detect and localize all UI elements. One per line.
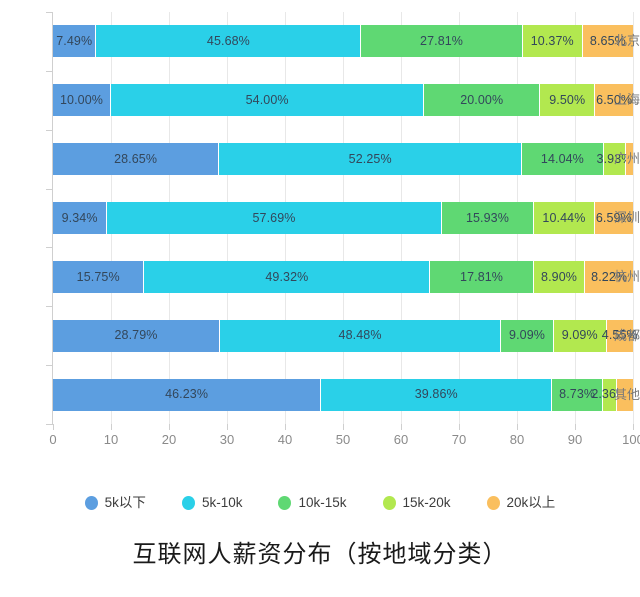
- bar-segment-label: 57.69%: [252, 212, 295, 225]
- legend-label: 10k-15k: [298, 496, 346, 510]
- legend-label: 5k-10k: [202, 496, 243, 510]
- x-axis-tick: [401, 424, 402, 430]
- bar-segment[interactable]: 14.04%: [522, 143, 603, 175]
- legend-label: 20k以上: [507, 496, 556, 510]
- bar-segment[interactable]: 49.32%: [144, 261, 430, 293]
- y-axis-tick: [46, 247, 53, 248]
- chart-legend: 5k以下5k-10k10k-15k15k-20k20k以上: [0, 486, 640, 520]
- y-axis-label-7: 其他: [596, 388, 640, 401]
- x-axis-tick-label: 10: [104, 433, 118, 446]
- x-axis-tick-label: 40: [278, 433, 292, 446]
- bar-segment-label: 49.32%: [265, 271, 308, 284]
- x-axis-tick-label: 80: [510, 433, 524, 446]
- bar-segment[interactable]: 15.75%: [53, 261, 144, 293]
- bar-segment[interactable]: 9.50%: [540, 84, 595, 116]
- bar-segment[interactable]: 27.81%: [361, 25, 522, 57]
- bar-segment[interactable]: 28.65%: [53, 143, 219, 175]
- x-axis-tick-label: 100: [622, 433, 640, 446]
- y-axis-tick: [46, 365, 53, 366]
- legend-swatch-icon: [278, 496, 291, 510]
- bar-segment[interactable]: 10.00%: [53, 84, 111, 116]
- bar-segment-label: 54.00%: [246, 94, 289, 107]
- bar-row: 7.49%45.68%27.81%10.37%8.65%: [53, 25, 633, 57]
- bar-segment-label: 28.65%: [114, 153, 157, 166]
- bar-segment[interactable]: 10.37%: [523, 25, 583, 57]
- plot-area: 7.49%45.68%27.81%10.37%8.65%10.00%54.00%…: [53, 12, 633, 424]
- bar-segment-label: 8.73%: [559, 388, 595, 401]
- y-axis-label-3: 广州: [596, 152, 640, 165]
- bar-segment-label: 28.79%: [114, 329, 157, 342]
- y-axis-tick: [46, 130, 53, 131]
- bar-segment-label: 10.00%: [60, 94, 103, 107]
- bar-row: 28.65%52.25%14.04%3.93%: [53, 143, 633, 175]
- bar-segment[interactable]: 45.68%: [96, 25, 361, 57]
- legend-item-5[interactable]: 20k以上: [487, 496, 556, 510]
- x-axis-tick: [517, 424, 518, 430]
- y-axis-label-6: 成都: [596, 329, 640, 342]
- bar-segment-label: 39.86%: [415, 388, 458, 401]
- bar-segment[interactable]: 52.25%: [219, 143, 522, 175]
- bar-segment-label: 9.09%: [509, 329, 545, 342]
- legend-swatch-icon: [383, 496, 396, 510]
- bar-segment-label: 9.34%: [62, 212, 98, 225]
- bar-segment[interactable]: 9.34%: [53, 202, 107, 234]
- bar-segment-label: 48.48%: [339, 329, 382, 342]
- bar-segment[interactable]: 20.00%: [424, 84, 540, 116]
- bar-segment[interactable]: 57.69%: [107, 202, 442, 234]
- bar-segment[interactable]: 54.00%: [111, 84, 424, 116]
- bar-segment-label: 15.93%: [466, 212, 509, 225]
- x-axis-tick-label: 50: [336, 433, 350, 446]
- x-axis-tick-label: 30: [220, 433, 234, 446]
- legend-swatch-icon: [85, 496, 98, 510]
- bar-row: 15.75%49.32%17.81%8.90%8.22%: [53, 261, 633, 293]
- bar-segment-label: 8.90%: [541, 271, 577, 284]
- bar-segment-label: 17.81%: [460, 271, 503, 284]
- bar-segment[interactable]: 39.86%: [321, 379, 552, 411]
- bar-segment-label: 52.25%: [349, 153, 392, 166]
- legend-item-4[interactable]: 15k-20k: [383, 496, 451, 510]
- y-axis-label-1: 北京: [596, 34, 640, 47]
- bar-segment-label: 10.37%: [531, 35, 574, 48]
- y-axis-tick: [46, 12, 53, 13]
- bar-segment[interactable]: 10.44%: [534, 202, 595, 234]
- legend-swatch-icon: [487, 496, 500, 510]
- legend-item-2[interactable]: 5k-10k: [182, 496, 243, 510]
- x-axis-tick: [169, 424, 170, 430]
- bar-row: 28.79%48.48%9.09%9.09%4.55%: [53, 320, 633, 352]
- bar-segment-label: 15.75%: [77, 271, 120, 284]
- x-axis-tick: [53, 424, 54, 430]
- x-axis-tick: [285, 424, 286, 430]
- bar-segment-label: 9.50%: [549, 94, 585, 107]
- x-axis-tick: [459, 424, 460, 430]
- bar-segment-label: 46.23%: [165, 388, 208, 401]
- bar-segment-label: 14.04%: [541, 153, 584, 166]
- legend-item-3[interactable]: 10k-15k: [278, 496, 346, 510]
- x-axis-tick-label: 20: [162, 433, 176, 446]
- bar-segment-label: 9.09%: [562, 329, 598, 342]
- x-axis-tick-label: 90: [568, 433, 582, 446]
- y-axis-label-5: 杭州: [596, 270, 640, 283]
- x-axis-tick-label: 70: [452, 433, 466, 446]
- x-axis-tick: [633, 424, 634, 430]
- legend-label: 15k-20k: [403, 496, 451, 510]
- y-axis-tick: [46, 71, 53, 72]
- y-axis-label-2: 上海: [596, 93, 640, 106]
- x-axis-tick: [343, 424, 344, 430]
- bar-segment-label: 10.44%: [542, 212, 585, 225]
- x-axis: 0102030405060708090100: [53, 424, 633, 450]
- bar-segment[interactable]: 17.81%: [430, 261, 533, 293]
- bar-row: 10.00%54.00%20.00%9.50%6.50%: [53, 84, 633, 116]
- x-axis-tick-label: 60: [394, 433, 408, 446]
- bar-segment[interactable]: 15.93%: [442, 202, 534, 234]
- x-axis-tick-label: 0: [49, 433, 56, 446]
- bar-segment-label: 20.00%: [460, 94, 503, 107]
- chart-title: 互联网人薪资分布（按地域分类）: [0, 540, 640, 569]
- y-axis-label-4: 深圳: [596, 211, 640, 224]
- bar-segment[interactable]: 8.90%: [534, 261, 586, 293]
- y-axis-tick: [46, 424, 53, 425]
- legend-swatch-icon: [182, 496, 195, 510]
- bar-segment[interactable]: 28.79%: [53, 320, 220, 352]
- bar-segment-label: 45.68%: [207, 35, 250, 48]
- bar-segment-label: 27.81%: [420, 35, 463, 48]
- salary-distribution-chart: 7.49%45.68%27.81%10.37%8.65%10.00%54.00%…: [0, 0, 640, 597]
- bar-segment[interactable]: 46.23%: [53, 379, 321, 411]
- bar-segment-label: 7.49%: [56, 35, 92, 48]
- bar-row: 9.34%57.69%15.93%10.44%6.59%: [53, 202, 633, 234]
- y-axis-tick: [46, 189, 53, 190]
- bar-row: 46.23%39.86%8.73%2.36%: [53, 379, 633, 411]
- x-axis-tick: [575, 424, 576, 430]
- x-axis-tick: [227, 424, 228, 430]
- bar-segment[interactable]: 48.48%: [220, 320, 501, 352]
- bar-segment[interactable]: 7.49%: [53, 25, 96, 57]
- legend-label: 5k以下: [105, 496, 146, 510]
- x-axis-tick: [111, 424, 112, 430]
- legend-item-1[interactable]: 5k以下: [85, 496, 146, 510]
- y-axis-tick: [46, 306, 53, 307]
- bar-segment[interactable]: 9.09%: [501, 320, 554, 352]
